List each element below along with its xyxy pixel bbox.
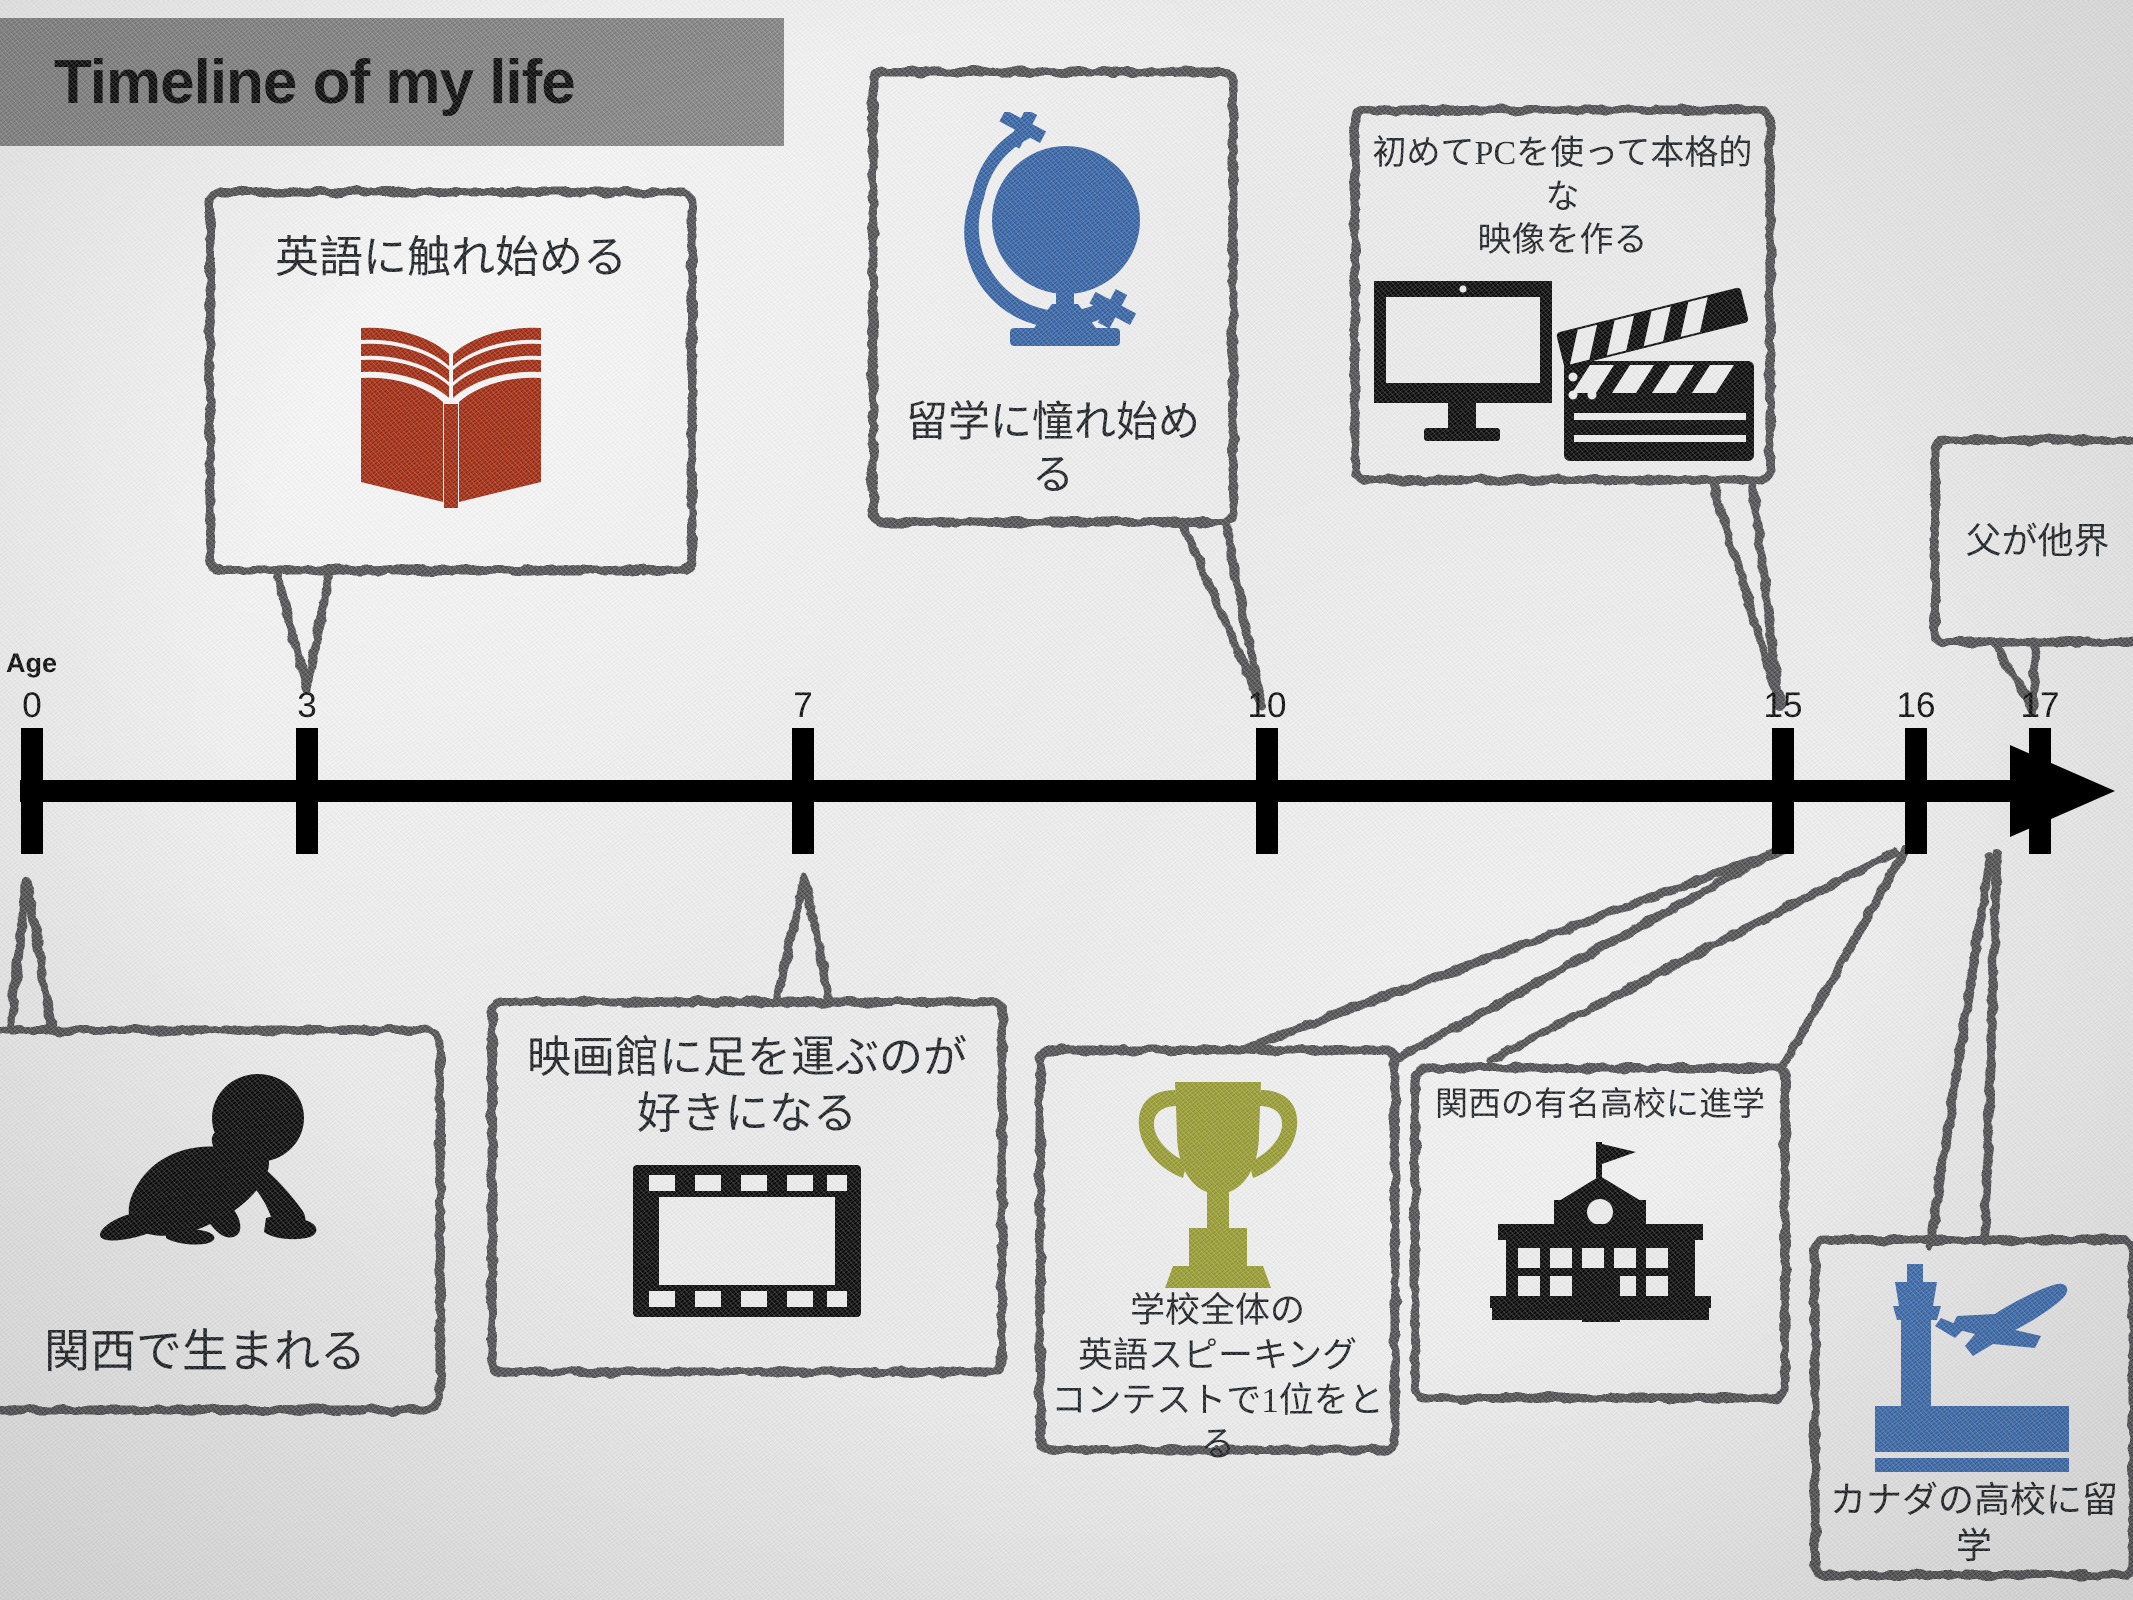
callout-tail-english bbox=[276, 570, 330, 690]
axis-tick-15 bbox=[1772, 728, 1794, 854]
callout-caption-born: 関西で生まれる bbox=[44, 1323, 366, 1382]
callout-study-abroad[interactable]: 留学に憧れ始める bbox=[873, 72, 1233, 522]
callout-caption-high-school: 関西の有名高校に進学 bbox=[1435, 1084, 1765, 1126]
axis-tick-0 bbox=[21, 728, 43, 854]
axis-tick-label-3: 3 bbox=[297, 686, 316, 726]
axis-tick-label-15: 15 bbox=[1764, 686, 1803, 726]
axis-tick-16 bbox=[1905, 728, 1927, 854]
callout-tail-canada bbox=[1985, 855, 1997, 1240]
callout-born[interactable]: 関西で生まれる bbox=[0, 1030, 440, 1410]
callout-tail-born bbox=[10, 880, 52, 1030]
timeline-infographic: Timeline of my life Age 0 3 7 10 15 16 1… bbox=[0, 0, 2133, 1600]
callout-tail-study-abroad bbox=[1182, 522, 1262, 707]
school-building-icon bbox=[1488, 1142, 1713, 1322]
axis-tick-7 bbox=[792, 728, 814, 854]
open-book-icon bbox=[331, 306, 571, 516]
callout-caption-english: 英語に触れ始める bbox=[275, 230, 627, 286]
callout-caption-father: 父が他界 bbox=[1965, 518, 2109, 564]
callout-tail-canada-2 bbox=[1930, 858, 1990, 1245]
callout-high-school[interactable]: 関西の有名高校に進学 bbox=[1415, 1068, 1785, 1398]
axis-tick-label-7: 7 bbox=[793, 686, 812, 726]
page-title: Timeline of my life bbox=[54, 47, 575, 118]
callout-caption-speech-contest: 学校全体の 英語スピーキング コンテストで1位をとる bbox=[1050, 1289, 1385, 1468]
callout-english[interactable]: 英語に触れ始める bbox=[210, 192, 692, 570]
callout-canada[interactable]: カナダの高校に留学 bbox=[1815, 1240, 2133, 1575]
axis-tick-label-16: 16 bbox=[1897, 686, 1936, 726]
callout-speech-contest[interactable]: 学校全体の 英語スピーキング コンテストで1位をとる bbox=[1040, 1050, 1395, 1450]
globe-icon bbox=[938, 112, 1168, 362]
callout-tail-highschool bbox=[1782, 850, 1905, 1068]
axis-tick-3 bbox=[296, 728, 318, 854]
callout-tail-speech-2 bbox=[1240, 850, 1780, 1050]
callout-caption-cinema: 映画館に足を運ぶのが 好きになる bbox=[527, 1030, 967, 1143]
title-bar: Timeline of my life bbox=[0, 18, 784, 146]
axis-tick-10 bbox=[1256, 728, 1278, 854]
callout-tail-first-pc bbox=[1712, 480, 1780, 706]
callout-first-pc[interactable]: 初めてPCを使って本格的な 映像を作る bbox=[1355, 110, 1770, 480]
callout-caption-study-abroad: 留学に憧れ始める bbox=[889, 397, 1217, 505]
axis-line bbox=[20, 780, 2019, 802]
trophy-icon bbox=[1123, 1074, 1313, 1289]
crawling-baby-icon bbox=[80, 1070, 330, 1255]
axis-label-age: Age bbox=[6, 648, 57, 679]
film-strip-icon bbox=[629, 1161, 865, 1321]
callout-caption-first-pc: 初めてPCを使って本格的な 映像を作る bbox=[1371, 132, 1754, 263]
axis-arrowhead bbox=[2010, 745, 2115, 837]
callout-caption-canada: カナダの高校に留学 bbox=[1827, 1477, 2121, 1569]
callout-tail-cinema bbox=[776, 878, 830, 1002]
axis-tick-label-10: 10 bbox=[1248, 686, 1287, 726]
callout-father[interactable]: 父が他界 bbox=[1935, 440, 2133, 642]
callout-tail-highschool-2 bbox=[1490, 852, 1895, 1060]
callout-tail-speech bbox=[1395, 850, 1780, 1060]
airport-plane-icon bbox=[1845, 1262, 2103, 1477]
callout-cinema[interactable]: 映画館に足を運ぶのが 好きになる bbox=[492, 1002, 1002, 1372]
axis-tick-label-0: 0 bbox=[22, 686, 41, 726]
axis-tick-17 bbox=[2029, 728, 2051, 854]
axis-tick-label-17: 17 bbox=[2021, 686, 2060, 726]
monitor-clapperboard-icon bbox=[1368, 273, 1758, 468]
